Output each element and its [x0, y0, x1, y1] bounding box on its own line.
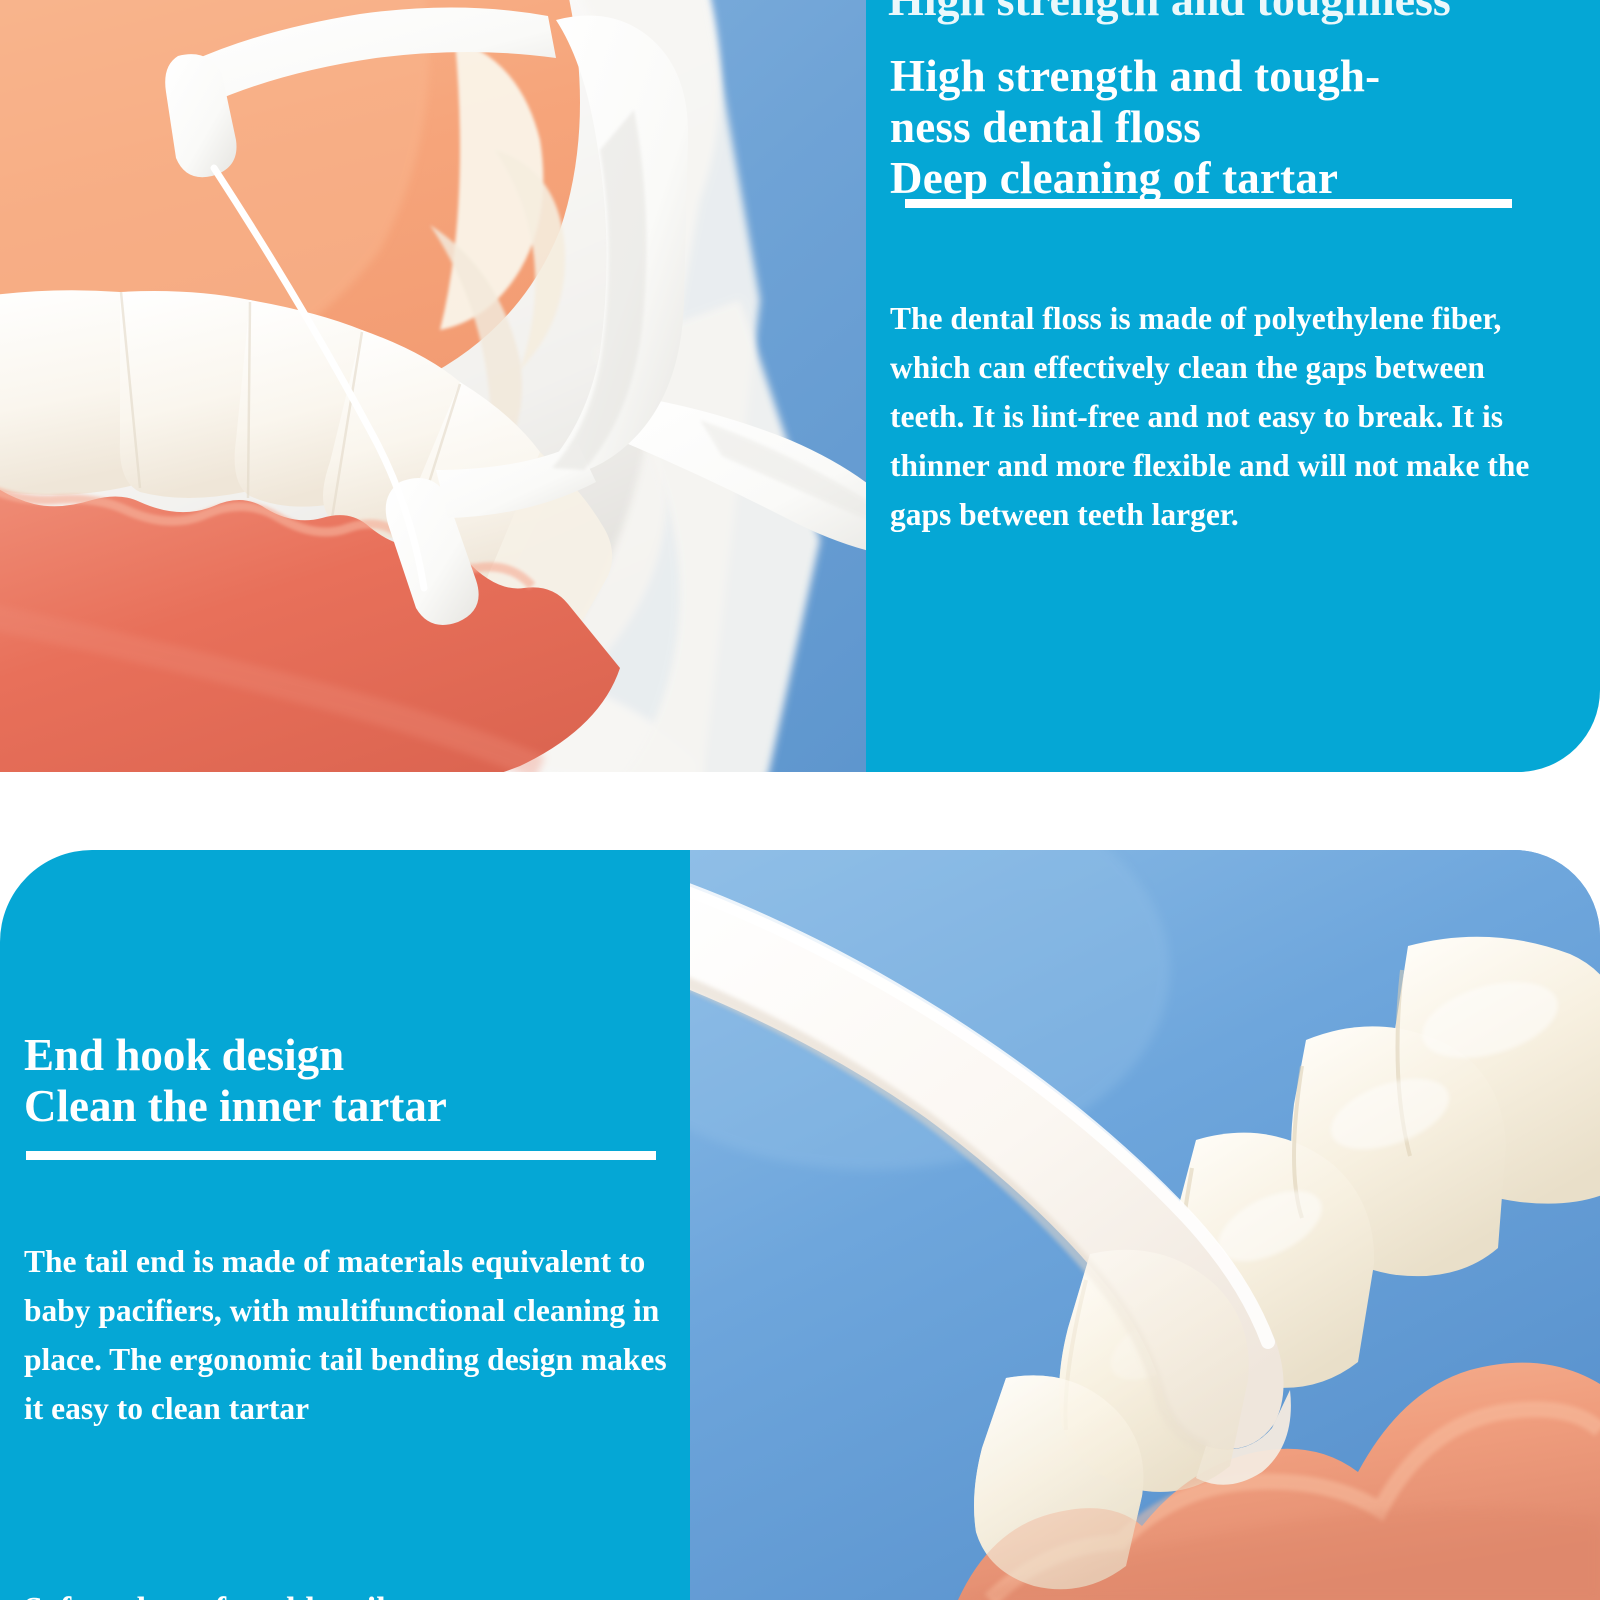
headline-line-1: High strength and tough-	[890, 51, 1380, 101]
headline-divider-bottom	[26, 1151, 656, 1160]
product-detail-page: High strength and toughness High strengt…	[0, 0, 1600, 1600]
cut-off-headline-below: Soft and comfortable tail	[24, 1588, 669, 1600]
headline-line-1: End hook design	[24, 1030, 344, 1080]
feature-section-high-strength: High strength and toughness High strengt…	[0, 0, 1600, 772]
cut-off-headline-above: High strength and toughness	[888, 0, 1451, 26]
headline-line-2: ness dental floss	[890, 102, 1201, 152]
headline-line-2: Clean the inner tartar	[24, 1081, 447, 1131]
body-text-end-hook: The tail end is made of materials equiva…	[24, 1237, 669, 1433]
feature-panel-end-hook: End hook design Clean the inner tartar T…	[0, 850, 690, 1600]
headline-end-hook: End hook design Clean the inner tartar	[24, 1030, 664, 1132]
body-text-high-strength: The dental floss is made of polyethylene…	[890, 294, 1552, 539]
headline-high-strength: High strength and tough- ness dental flo…	[890, 51, 1562, 204]
headline-divider-top	[905, 199, 1512, 208]
headline-line-3: Deep cleaning of tartar	[890, 153, 1338, 203]
floss-pick-tail-hook-on-teeth-photo	[690, 850, 1600, 1600]
feature-panel-high-strength: High strength and toughness High strengt…	[866, 0, 1600, 772]
dental-model-with-floss-pick-photo	[0, 0, 866, 772]
feature-section-end-hook: End hook design Clean the inner tartar T…	[0, 850, 1600, 1600]
